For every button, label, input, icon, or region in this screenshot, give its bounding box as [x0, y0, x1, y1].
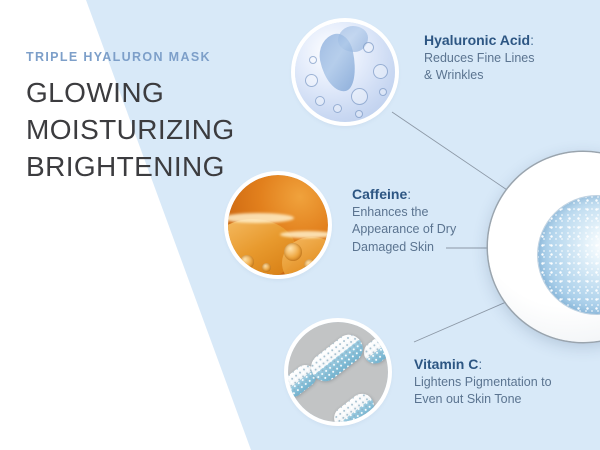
bubble-shape: [379, 88, 387, 96]
headline-line-1: GLOWING: [26, 75, 256, 112]
infographic-canvas: TRIPLE HYALURON MASK GLOWING MOISTURIZIN…: [0, 0, 600, 450]
ingredient-image-vitaminc: [288, 322, 388, 422]
oil-highlight: [228, 213, 294, 223]
ingredient-label-hyaluronic: Hyaluronic Acid: Reduces Fine Lines & Wr…: [424, 32, 534, 85]
ingredient-title-vitaminc: Vitamin C:: [414, 356, 552, 372]
ingredient-description-vitaminc: Lightens Pigmentation to Even out Skin T…: [414, 374, 552, 409]
ingredient-title-text: Caffeine: [352, 186, 407, 202]
ingredient-label-vitaminc: Vitamin C: Lightens Pigmentation to Even…: [414, 356, 552, 409]
oil-bubble-shape: [284, 243, 302, 261]
bubble-shape: [355, 110, 363, 118]
bubble-shape: [351, 88, 368, 105]
headline-block: TRIPLE HYALURON MASK GLOWING MOISTURIZIN…: [26, 50, 256, 186]
description-line: Damaged Skin: [352, 239, 456, 256]
ingredient-title-text: Hyaluronic Acid: [424, 32, 530, 48]
oil-highlight: [280, 231, 328, 238]
bubble-shape: [315, 96, 325, 106]
amber-oil-droplets-icon: [228, 175, 328, 275]
blue-white-microbead-capsules-icon: [288, 322, 388, 422]
bubble-shape: [363, 42, 374, 53]
oil-bubble-shape: [262, 263, 271, 272]
oil-bubble-shape: [304, 259, 316, 271]
bubble-shape: [305, 74, 318, 87]
description-line: Lightens Pigmentation to: [414, 374, 552, 391]
ingredient-image-hyaluronic: [295, 22, 395, 122]
headline-line-3: BRIGHTENING: [26, 149, 256, 186]
ingredient-title-colon: :: [530, 32, 534, 48]
ingredient-label-caffeine: Caffeine: Enhances the Appearance of Dry…: [352, 186, 456, 256]
ingredient-title-hyaluronic: Hyaluronic Acid:: [424, 32, 534, 48]
oil-bubble-shape: [240, 255, 254, 269]
ingredient-title-caffeine: Caffeine:: [352, 186, 456, 202]
bubble-shape: [373, 64, 388, 79]
jar-gel-content: [538, 196, 600, 314]
bubble-shape: [333, 104, 342, 113]
page-title: GLOWING MOISTURIZING BRIGHTENING: [26, 75, 256, 186]
description-line: Even out Skin Tone: [414, 391, 552, 408]
description-line: & Wrinkles: [424, 67, 534, 84]
description-line: Enhances the: [352, 204, 456, 221]
ingredient-image-caffeine: [228, 175, 328, 275]
ingredient-description-caffeine: Enhances the Appearance of Dry Damaged S…: [352, 204, 456, 256]
blue-gel-serum-bubbles-icon: [295, 22, 395, 122]
ingredient-title-colon: :: [478, 356, 482, 372]
product-eyebrow: TRIPLE HYALURON MASK: [26, 50, 256, 64]
description-line: Reduces Fine Lines: [424, 50, 534, 67]
ingredient-title-text: Vitamin C: [414, 356, 478, 372]
description-line: Appearance of Dry: [352, 221, 456, 238]
headline-line-2: MOISTURIZING: [26, 112, 256, 149]
ingredient-title-colon: :: [407, 186, 411, 202]
bubble-shape: [309, 56, 317, 64]
ingredient-description-hyaluronic: Reduces Fine Lines & Wrinkles: [424, 50, 534, 85]
